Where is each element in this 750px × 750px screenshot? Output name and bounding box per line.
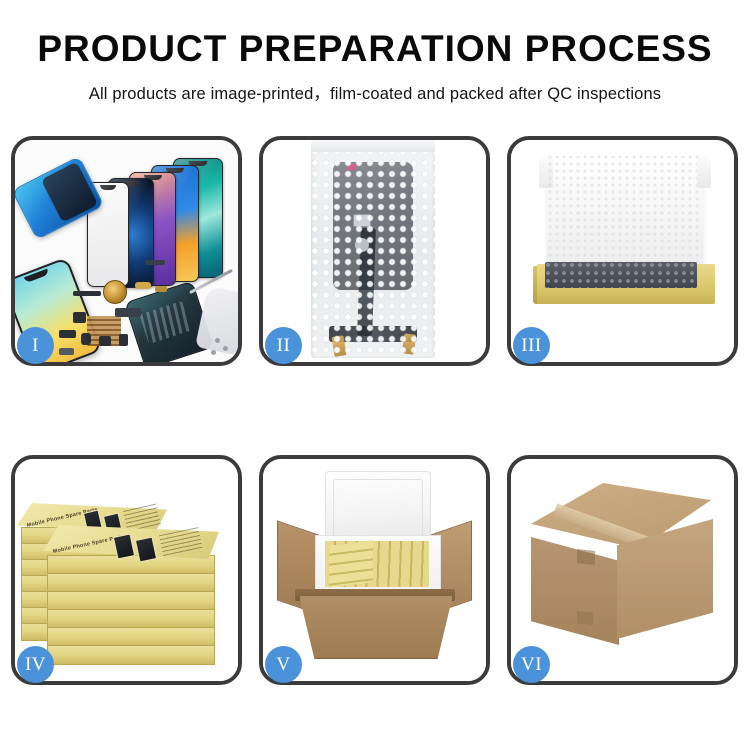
step-panel-4: Mobile Phone Spare Parts Mobile Phone Sp… bbox=[11, 455, 242, 685]
screw-icon bbox=[223, 346, 228, 351]
step-image-2 bbox=[263, 140, 486, 362]
stacked-box-edge bbox=[47, 573, 215, 593]
page-subtitle: All products are image-printed，film-coat… bbox=[0, 80, 750, 104]
phone-lineup-group bbox=[81, 156, 238, 286]
stacked-box-edge bbox=[47, 591, 215, 611]
process-steps-grid: I II bbox=[11, 136, 739, 685]
carton-front-icon bbox=[299, 595, 453, 659]
step-badge-5: V bbox=[265, 646, 302, 683]
bubble-texture bbox=[311, 148, 435, 358]
carton-flap-seam-icon bbox=[577, 611, 593, 625]
step-panel-5: V bbox=[259, 455, 490, 685]
screw-icon bbox=[215, 338, 220, 343]
step-badge-1: I bbox=[17, 327, 54, 364]
yellow-boxes-stack-icon bbox=[329, 540, 373, 587]
antenna-strip-icon bbox=[145, 260, 165, 265]
bubble-texture bbox=[545, 262, 697, 288]
step-badge-6: VI bbox=[513, 646, 550, 683]
step-panel-6: VI bbox=[507, 455, 738, 685]
speaker-coil-icon bbox=[103, 280, 127, 304]
foam-lid-icon bbox=[547, 154, 703, 272]
box-stack-group: Mobile Phone Spare Parts Mobile Phone Sp… bbox=[15, 459, 238, 681]
stacked-box-edge bbox=[47, 609, 215, 629]
ribbon-cable-icon bbox=[115, 308, 141, 317]
step-panel-2: II bbox=[259, 136, 490, 366]
page-title: PRODUCT PREPARATION PROCESS bbox=[0, 30, 750, 69]
bubble-wrapped-contents-icon bbox=[545, 262, 697, 288]
sim-tray-icon bbox=[81, 333, 91, 345]
gold-connector-icon bbox=[135, 282, 151, 289]
gold-contact-icon bbox=[155, 286, 167, 292]
flex-cable-icon bbox=[73, 291, 101, 296]
earpiece-icon bbox=[99, 336, 111, 346]
step-panel-1: I bbox=[11, 136, 242, 366]
step-image-1 bbox=[15, 140, 238, 362]
foam-texture bbox=[547, 154, 703, 272]
foam-lid-icon bbox=[325, 471, 431, 545]
step-image-4: Mobile Phone Spare Parts Mobile Phone Sp… bbox=[15, 459, 238, 681]
step-image-5 bbox=[263, 459, 486, 681]
stacked-box-edge bbox=[47, 645, 215, 665]
button-part-icon bbox=[119, 334, 128, 346]
carton-flap-seam-icon bbox=[577, 549, 595, 565]
camera-module-icon bbox=[73, 312, 86, 323]
small-part-icon bbox=[59, 348, 74, 355]
hand-tool-icon bbox=[195, 286, 238, 356]
product-preparation-infographic: PRODUCT PREPARATION PROCESS All products… bbox=[0, 0, 750, 750]
step-badge-2: II bbox=[265, 327, 302, 364]
screw-icon bbox=[211, 350, 216, 355]
bag-seal-icon bbox=[311, 140, 435, 152]
bubble-wrap-bag-icon bbox=[311, 148, 435, 358]
step-image-6 bbox=[511, 459, 734, 681]
vibration-motor-icon bbox=[59, 330, 76, 338]
stacked-box-edge bbox=[47, 627, 215, 647]
header: PRODUCT PREPARATION PROCESS All products… bbox=[0, 0, 750, 104]
step-panel-3: III bbox=[507, 136, 738, 366]
step-badge-4: IV bbox=[17, 646, 54, 683]
step-image-3 bbox=[511, 140, 734, 362]
step-badge-3: III bbox=[513, 327, 550, 364]
carton-left-face-icon bbox=[531, 537, 619, 645]
